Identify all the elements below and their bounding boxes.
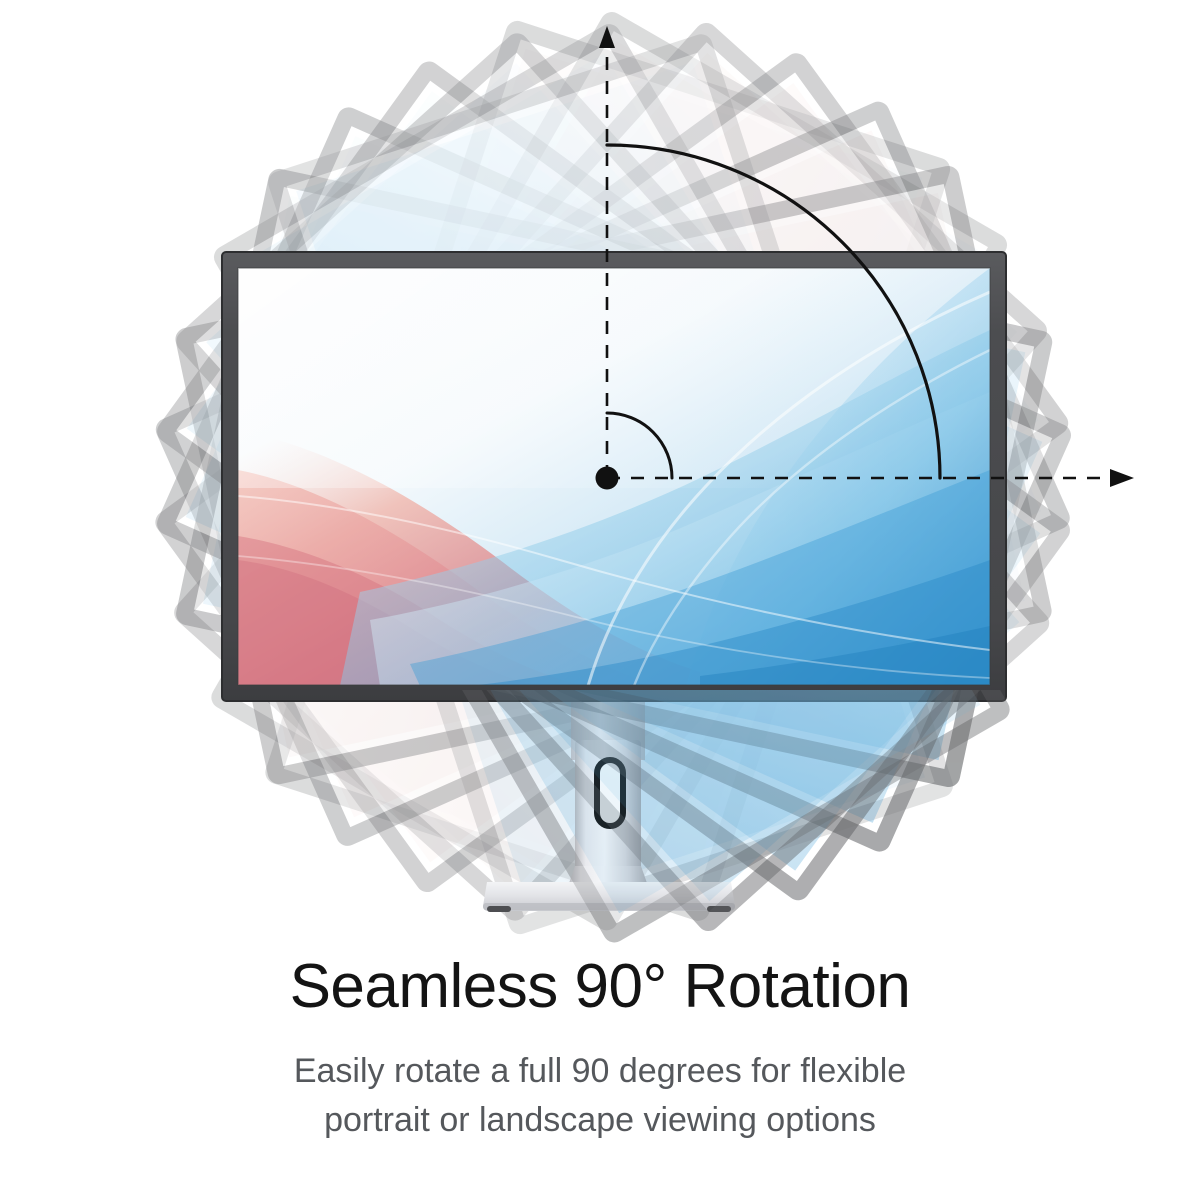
page-subtitle-line1: Easily rotate a full 90 degrees for flex… xyxy=(294,1052,906,1090)
rotation-pivot-dot xyxy=(596,467,619,490)
page-title: Seamless 90° Rotation xyxy=(0,952,1200,1021)
rotation-diagram-svg xyxy=(0,0,1200,950)
right-arrow-icon xyxy=(1110,469,1134,487)
page-subtitle: Easily rotate a full 90 degrees for flex… xyxy=(0,1047,1200,1144)
stand-foot-left xyxy=(487,906,511,912)
monitor-rotation-illustration xyxy=(0,0,1200,950)
page-subtitle-line2: portrait or landscape viewing options xyxy=(0,1096,1200,1144)
caption-block: Seamless 90° Rotation Easily rotate a fu… xyxy=(0,952,1200,1144)
product-feature-card: Seamless 90° Rotation Easily rotate a fu… xyxy=(0,0,1200,1200)
